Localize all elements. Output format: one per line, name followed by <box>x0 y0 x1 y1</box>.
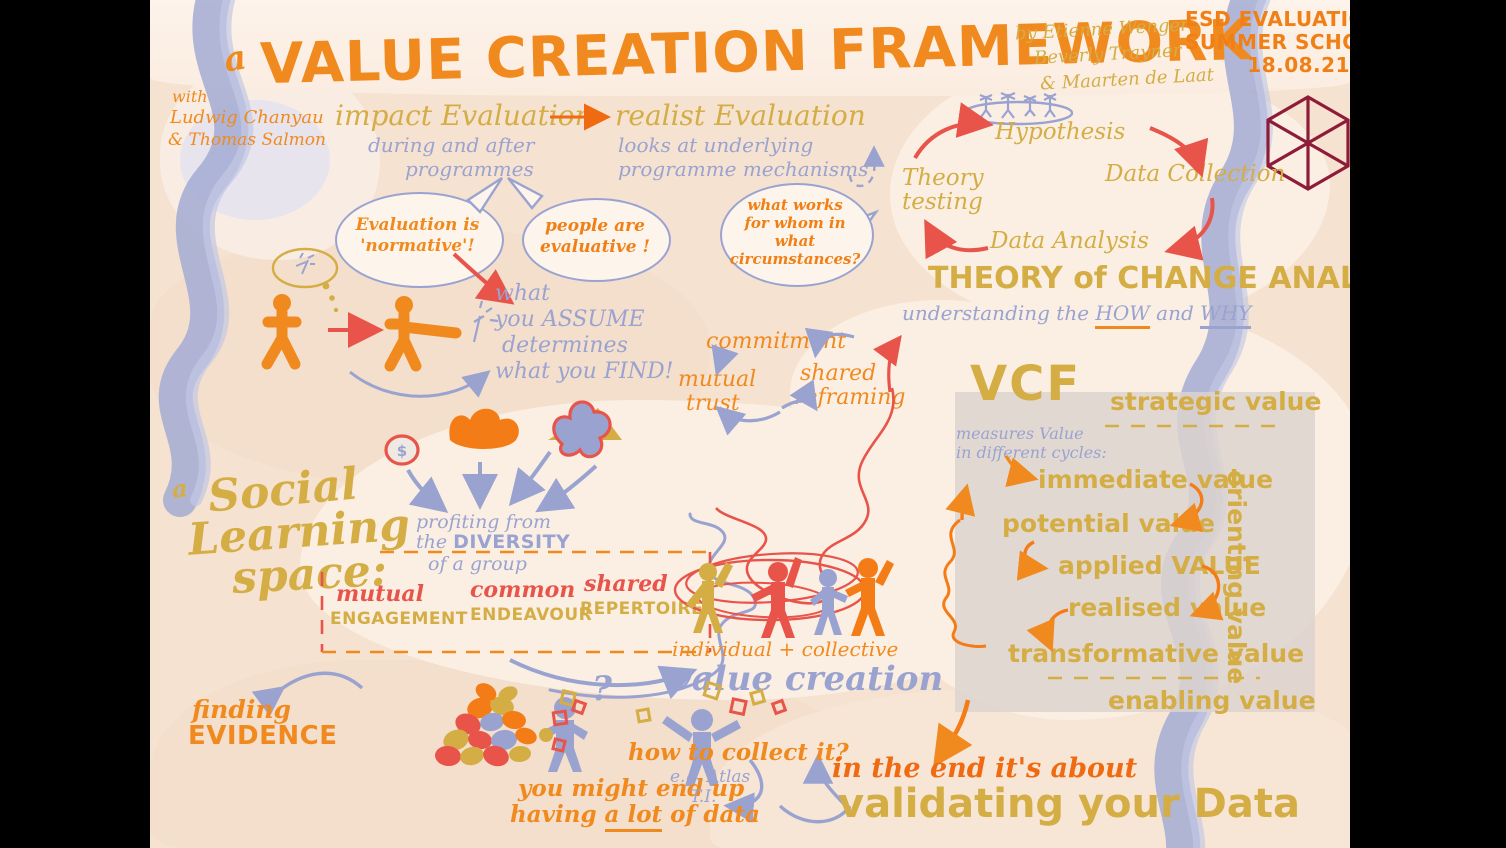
credit-line-3: & Thomas Salmon <box>168 131 326 150</box>
toc-sub-and: and <box>1150 301 1200 325</box>
pillar-3-caps: REPERTOIRE <box>580 600 703 619</box>
collect-example-line-2: T.I. <box>690 788 716 807</box>
social-space-article: a <box>171 475 189 503</box>
closing-line-2: validating your Data <box>838 782 1300 827</box>
pillar-1-script: mutual <box>336 582 424 607</box>
impact-evaluation-sub-1: during and after <box>368 134 534 156</box>
cycle-theory-testing-2: testing <box>902 190 983 216</box>
toc-sub-why: WHY <box>1200 301 1251 329</box>
title-article: a <box>221 38 249 79</box>
assume-line-3: determines <box>502 334 628 359</box>
vcf-enabling-value: enabling value <box>1108 687 1316 715</box>
value-creation-framework-poster: a VALUE CREATION FRAMEWORK by Etienne We… <box>150 0 1350 848</box>
pillar-1-caps: ENGAGEMENT <box>330 610 468 629</box>
cycle-data-analysis: Data Analysis <box>990 229 1149 255</box>
theory-of-change-heading: THEORY of CHANGE ANALYSIS <box>928 262 1350 296</box>
shared-reframing-line-1: shared <box>800 362 876 387</box>
diversity-line-2: the DIVERSITY <box>416 532 570 553</box>
speech-bubble-evaluative-text: people are evaluative ! <box>525 216 665 257</box>
vcf-cycle-potential: potential value <box>1002 510 1215 538</box>
diversity-line-3: of a group <box>428 554 527 575</box>
pillar-2-script: common <box>470 578 575 603</box>
pillar-3-script: shared <box>584 572 668 597</box>
diversity-line-2-pre: the <box>416 531 453 553</box>
vcf-strategic-value: strategic value <box>1110 388 1321 416</box>
a-lot-pre: having <box>510 801 605 828</box>
credit-line-2: Ludwig Chanyau <box>170 108 324 128</box>
vcf-cycle-transformative: transformative value <box>1008 640 1304 668</box>
vcf-subtitle-1: measures Value <box>956 425 1084 443</box>
vcf-cycle-realised: realised value <box>1068 594 1266 622</box>
credit-line-1: with <box>172 88 208 106</box>
speech-bubble-what-works-text: what works for whom in what circumstance… <box>722 196 868 268</box>
cycle-hypothesis: Hypothesis <box>995 120 1125 146</box>
svg-text:?: ? <box>592 669 613 709</box>
cycle-data-collection: Data Collection <box>1105 162 1285 188</box>
finding-evidence-caps: EVIDENCE <box>188 722 338 751</box>
vcf-cycle-immediate: immediate value <box>1038 466 1273 494</box>
assume-line-1: what <box>495 282 550 307</box>
mutual-trust-line-2: trust <box>686 392 740 417</box>
impact-evaluation-title: impact Evaluation <box>335 100 593 131</box>
realist-evaluation-sub-2: programme mechanisms <box>618 158 868 180</box>
assume-line-2: you ASSUME <box>495 308 645 333</box>
how-to-collect-question: how to collect it? <box>628 740 849 766</box>
svg-text:$: $ <box>397 442 407 460</box>
toc-sub-pre: understanding the <box>902 301 1095 325</box>
theory-of-change-subheading: understanding the HOW and WHY <box>902 302 1251 324</box>
vcf-title: VCF <box>970 358 1081 412</box>
screenshot-stage: a VALUE CREATION FRAMEWORK by Etienne We… <box>0 0 1506 848</box>
assume-line-4: what you FIND! <box>495 360 673 385</box>
cycle-theory-testing-1: Theory <box>902 166 984 192</box>
speech-bubble-normative-text: Evaluation is 'normative'! <box>340 215 495 256</box>
commitment-label: commitment <box>706 330 846 355</box>
realist-evaluation-sub-1: looks at underlying <box>618 134 813 156</box>
event-name-line-1: ESD EVALUATION <box>1185 8 1350 31</box>
value-creation-line-2: value creation <box>672 660 943 698</box>
vcf-subtitle-2: in different cycles: <box>956 444 1107 462</box>
mutual-trust-line-1: mutual <box>678 368 756 393</box>
collect-example-line-1: e.g. Atlas <box>670 768 750 787</box>
event-date: 18.08.21 <box>1185 54 1350 77</box>
closing-line-1: in the end it's about <box>832 754 1137 784</box>
value-creation-line-1: individual + collective <box>672 638 898 660</box>
vcf-cycle-applied: applied VALUE <box>1058 552 1261 580</box>
finding-evidence-script: finding <box>192 696 291 724</box>
realist-evaluation-title: realist Evaluation <box>615 100 866 131</box>
a-lot-emphasis: a lot <box>605 801 663 832</box>
impact-evaluation-sub-2: programmes <box>405 158 534 180</box>
shared-reframing-line-2: reframing <box>794 386 905 411</box>
toc-sub-how: HOW <box>1095 301 1149 329</box>
event-name-line-2: SUMMER SCHOOL <box>1185 31 1350 54</box>
diversity-line-2-caps: DIVERSITY <box>453 531 570 553</box>
a-lot-of-data-line-2: having a lot of data <box>510 802 760 828</box>
pillar-2-caps: ENDEAVOUR <box>470 606 592 625</box>
